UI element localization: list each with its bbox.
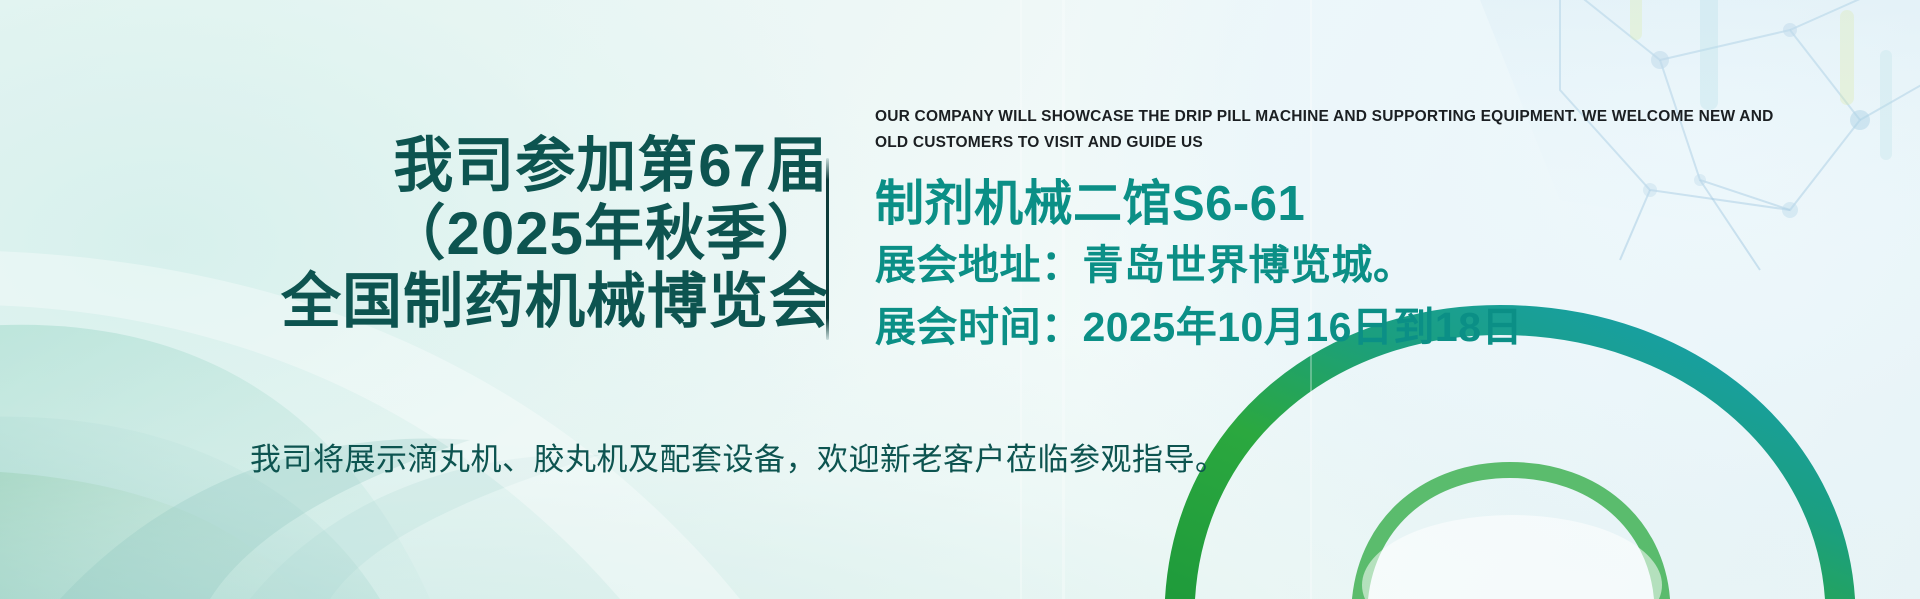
exhibition-banner: 我司参加第67届 （2025年秋季） 全国制药机械博览会 OUR COMPANY…: [0, 0, 1920, 599]
vertical-divider: [826, 158, 829, 340]
left-title-line-2: （2025年秋季）: [180, 200, 830, 268]
english-subtitle: OUR COMPANY WILL SHOWCASE THE DRIP PILL …: [875, 104, 1790, 156]
bottom-description: 我司将展示滴丸机、胶丸机及配套设备，欢迎新老客户莅临参观指导。: [250, 440, 1227, 480]
exhibition-dates: 展会时间：2025年10月16日到18日: [875, 296, 1895, 358]
venue-address: 展会地址：青岛世界博览城。: [875, 234, 1895, 296]
left-title-block: 我司参加第67届 （2025年秋季） 全国制药机械博览会: [180, 132, 830, 336]
hall-booth-number: 制剂机械二馆S6-61: [875, 174, 1895, 234]
left-title-line-3: 全国制药机械博览会: [180, 268, 830, 336]
banner-content: 我司参加第67届 （2025年秋季） 全国制药机械博览会 OUR COMPANY…: [0, 0, 1920, 599]
right-detail-block: OUR COMPANY WILL SHOWCASE THE DRIP PILL …: [875, 104, 1895, 358]
left-title-line-1: 我司参加第67届: [180, 132, 830, 200]
